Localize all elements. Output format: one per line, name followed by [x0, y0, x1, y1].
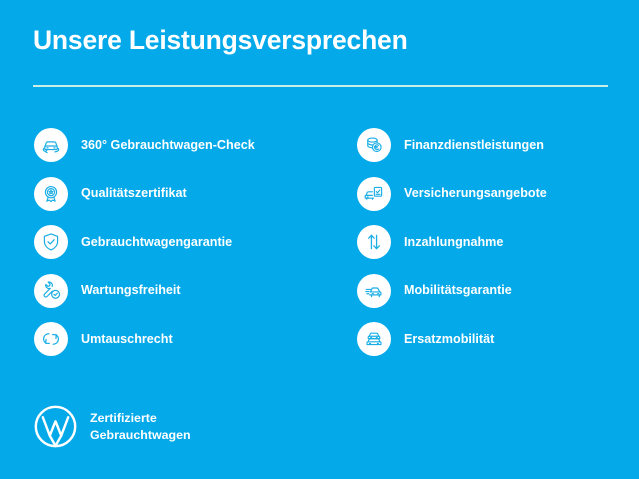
award-rosette-icon	[34, 177, 68, 211]
feature-item-gebrauchtwagengarantie: Gebrauchtwagengarantie	[34, 218, 334, 267]
feature-label: Umtauschrecht	[81, 332, 173, 347]
arrows-up-down-icon	[357, 225, 391, 259]
feature-item-mobilitaetsgarantie: Mobilitätsgarantie	[357, 267, 637, 316]
feature-label: Wartungsfreiheit	[81, 283, 181, 298]
header-divider	[33, 85, 608, 87]
exchange-arrows-icon	[34, 322, 68, 356]
footer-brand: Zertifizierte Gebrauchtwagen	[33, 404, 191, 449]
feature-label: Finanzdienstleistungen	[404, 138, 544, 153]
volkswagen-logo	[33, 404, 78, 449]
feature-item-inzahlungnahme: Inzahlungnahme	[357, 218, 637, 267]
feature-item-qualitaetszertifikat: Qualitätszertifikat	[34, 170, 334, 219]
feature-item-ersatzmobilitaet: Ersatzmobilität	[357, 315, 637, 364]
feature-label: 360° Gebrauchtwagen-Check	[81, 138, 255, 153]
two-cars-icon	[357, 322, 391, 356]
header: Unsere Leistungsversprechen	[33, 26, 608, 55]
shield-check-icon	[34, 225, 68, 259]
feature-label: Inzahlungnahme	[404, 235, 503, 250]
page-title: Unsere Leistungsversprechen	[33, 26, 608, 55]
feature-label: Ersatzmobilität	[404, 332, 494, 347]
feature-item-wartungsfreiheit: Wartungsfreiheit	[34, 267, 334, 316]
car-360-rotate-icon	[34, 128, 68, 162]
feature-label: Versicherungsangebote	[404, 186, 547, 201]
feature-item-versicherungsangebote: Versicherungsangebote	[357, 170, 637, 219]
wrench-check-icon	[34, 274, 68, 308]
features-column-left: 360° Gebrauchtwagen-Check Qualitätszerti…	[34, 121, 334, 364]
coins-euro-icon	[357, 128, 391, 162]
feature-label: Qualitätszertifikat	[81, 186, 187, 201]
car-document-icon	[357, 177, 391, 211]
feature-item-finanzdienstleistungen: Finanzdienstleistungen	[357, 121, 637, 170]
car-speed-lines-icon	[357, 274, 391, 308]
features-column-right: Finanzdienstleistungen Versicheru	[357, 121, 637, 364]
footer-line-1: Zertifizierte	[90, 410, 191, 426]
leistungsversprechen-banner: Unsere Leistungsversprechen 3	[0, 0, 639, 479]
feature-item-umtauschrecht: Umtauschrecht	[34, 315, 334, 364]
feature-label: Mobilitätsgarantie	[404, 283, 512, 298]
feature-label: Gebrauchtwagengarantie	[81, 235, 232, 250]
footer-brand-text: Zertifizierte Gebrauchtwagen	[90, 410, 191, 443]
footer-line-2: Gebrauchtwagen	[90, 427, 191, 443]
feature-item-360-check: 360° Gebrauchtwagen-Check	[34, 121, 334, 170]
